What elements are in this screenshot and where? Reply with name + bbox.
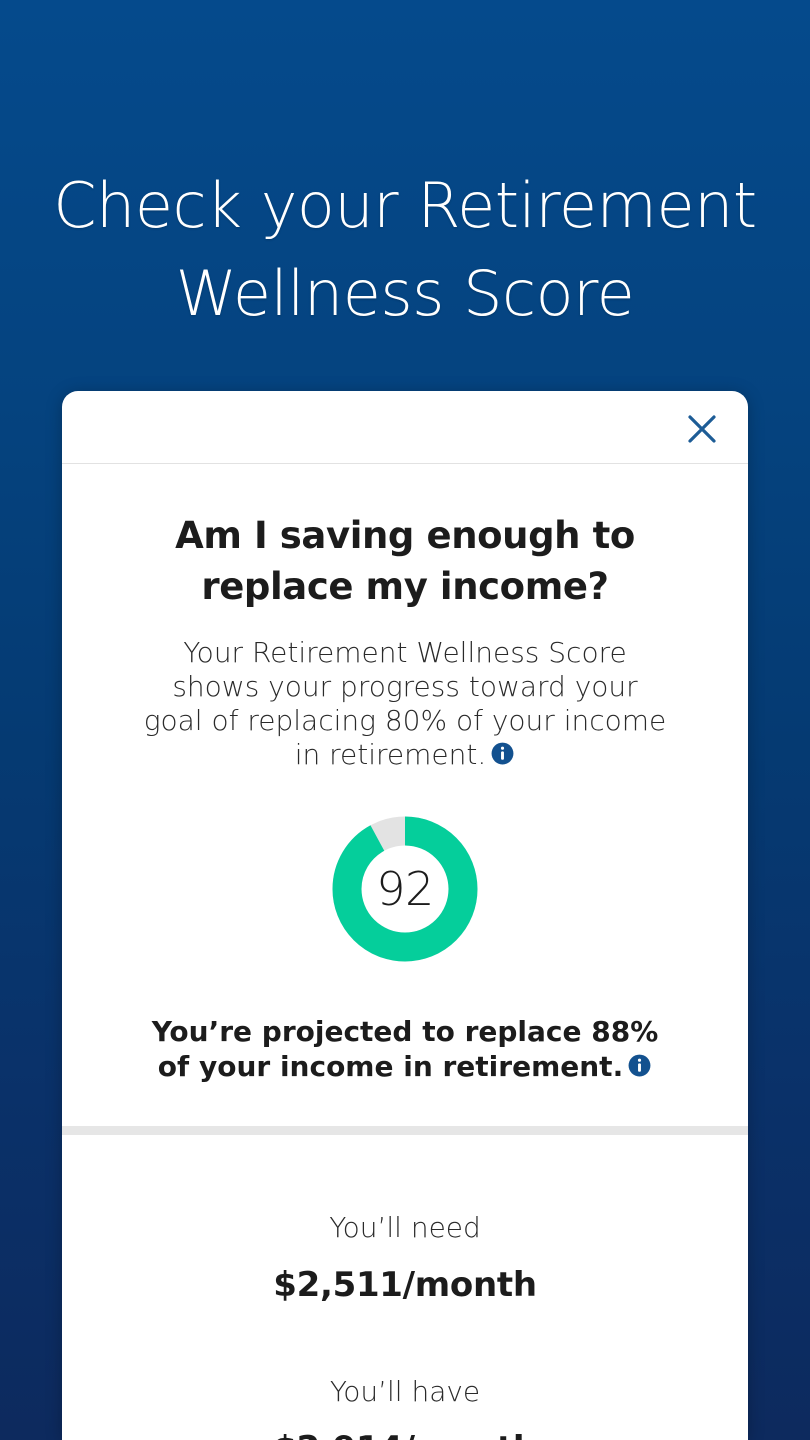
modal-title: Am I saving enough to replace my income? <box>102 510 708 612</box>
figure-amount: $2,914/month <box>102 1429 708 1440</box>
modal-description-text: Your Retirement Wellness Score shows you… <box>144 636 667 771</box>
modal-description: Your Retirement Wellness Score shows you… <box>140 636 670 772</box>
app-screen: Check your Retirement Wellness Score Am … <box>0 0 810 1440</box>
modal-body: Am I saving enough to replace my income?… <box>62 510 748 1084</box>
wellness-score-gauge: 92 <box>332 816 478 962</box>
info-icon[interactable] <box>627 1053 652 1078</box>
section-divider <box>62 1126 748 1135</box>
figure-label: You’ll need <box>102 1211 708 1245</box>
figure-amount: $2,511/month <box>102 1265 708 1305</box>
wellness-score-gauge-container: 92 <box>102 816 708 962</box>
figure-needed: You’ll need $2,511/month <box>102 1211 708 1305</box>
close-button[interactable] <box>678 405 726 453</box>
page-title: Check your Retirement Wellness Score <box>0 162 810 338</box>
projection-text: You’re projected to replace 88% of your … <box>152 1015 659 1083</box>
figure-label: You’ll have <box>102 1375 708 1409</box>
retirement-score-modal: Am I saving enough to replace my income?… <box>62 391 748 1440</box>
figure-have: You’ll have $2,914/month <box>102 1375 708 1440</box>
figures-section: You’ll need $2,511/month You’ll have $2,… <box>62 1211 748 1440</box>
projection-statement: You’re projected to replace 88% of your … <box>145 1014 665 1084</box>
close-icon <box>685 412 719 446</box>
gauge-score-value: 92 <box>332 816 478 962</box>
info-icon[interactable] <box>490 741 515 766</box>
modal-header <box>62 391 748 464</box>
